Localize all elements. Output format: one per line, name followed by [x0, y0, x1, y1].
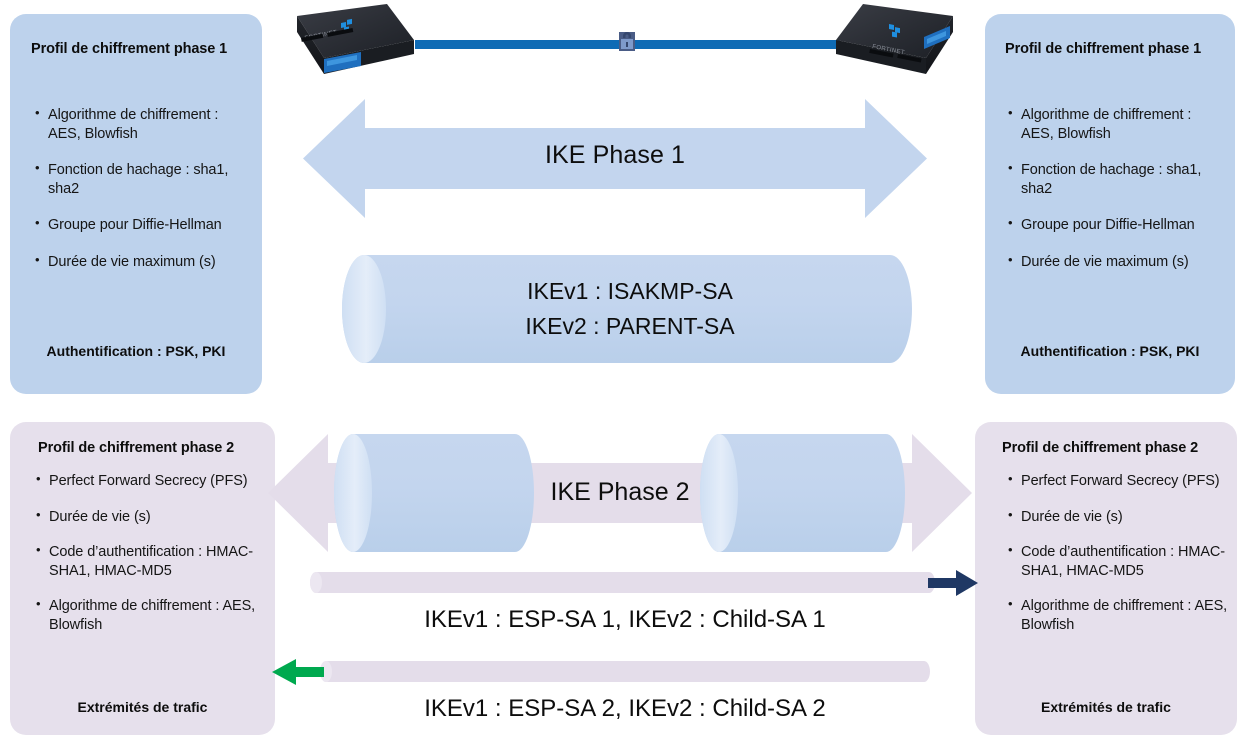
- esp-sa-2-direction-arrow: [272, 657, 324, 687]
- profile-footer: Authentification : PSK, PKI: [10, 343, 262, 360]
- list-item: Algorithme de chiffrement : AES, Blowfis…: [35, 597, 260, 634]
- list-item: Perfect Forward Secrecy (PFS): [35, 472, 260, 491]
- profile-title: Profil de chiffrement phase 2: [38, 440, 234, 457]
- ike-phase2-label: IKE Phase 2: [268, 478, 972, 507]
- list-item: Algorithme de chiffrement : AES, Blowfis…: [34, 106, 249, 143]
- list-item: Algorithme de chiffrement : AES, Blowfis…: [1007, 106, 1225, 143]
- list-item: Code d’authentification : HMAC-SHA1, HMA…: [1007, 543, 1233, 580]
- list-item: Code d’authentification : HMAC-SHA1, HMA…: [35, 543, 260, 580]
- list-item: Durée de vie maximum (s): [1007, 253, 1225, 272]
- profile-item-list: Algorithme de chiffrement : AES, Blowfis…: [1007, 106, 1225, 289]
- profile-box-phase2-left: Profil de chiffrement phase 2 Perfect Fo…: [10, 422, 275, 735]
- profile-box-phase1-left: Profil de chiffrement phase 1 Algorithme…: [10, 14, 262, 394]
- firewall-appliance-icon: FORTINET: [283, 4, 418, 94]
- profile-box-phase1-right: Profil de chiffrement phase 1 Algorithme…: [985, 14, 1235, 394]
- profile-item-list: Perfect Forward Secrecy (PFS) Durée de v…: [1007, 472, 1233, 651]
- profile-footer: Extrémités de trafic: [975, 699, 1237, 716]
- profile-item-list: Algorithme de chiffrement : AES, Blowfis…: [34, 106, 249, 289]
- esp-sa-1-direction-arrow: [928, 568, 978, 598]
- list-item: Durée de vie (s): [35, 508, 260, 527]
- list-item: Durée de vie maximum (s): [34, 253, 249, 272]
- diagram-canvas: Profil de chiffrement phase 1 Algorithme…: [0, 0, 1245, 745]
- ike-phase1-label: IKE Phase 1: [303, 141, 927, 170]
- profile-footer: Extrémités de trafic: [10, 699, 275, 716]
- firewall-appliance-icon: FORTINET: [832, 4, 967, 94]
- phase1-sa-labels: IKEv1 : ISAKMP-SA IKEv2 : PARENT-SA: [360, 274, 900, 344]
- list-item: Algorithme de chiffrement : AES, Blowfis…: [1007, 597, 1233, 634]
- list-item: Perfect Forward Secrecy (PFS): [1007, 472, 1233, 491]
- list-item: Fonction de hachage : sha1, sha2: [34, 161, 249, 198]
- list-item: Groupe pour Diffie-Hellman: [1007, 216, 1225, 235]
- esp-sa-2-bar: [320, 661, 930, 682]
- phase1-sa-line-2: IKEv2 : PARENT-SA: [360, 309, 900, 344]
- profile-item-list: Perfect Forward Secrecy (PFS) Durée de v…: [35, 472, 260, 651]
- list-item: Groupe pour Diffie-Hellman: [34, 216, 249, 235]
- esp-sa-1-label: IKEv1 : ESP-SA 1, IKEv2 : Child-SA 1: [290, 606, 960, 634]
- profile-title: Profil de chiffrement phase 1: [1005, 41, 1201, 58]
- list-item: Fonction de hachage : sha1, sha2: [1007, 161, 1225, 198]
- list-item: Durée de vie (s): [1007, 508, 1233, 527]
- esp-sa-1-bar: [310, 572, 935, 593]
- profile-title: Profil de chiffrement phase 2: [1002, 440, 1198, 457]
- profile-box-phase2-right: Profil de chiffrement phase 2 Perfect Fo…: [975, 422, 1237, 735]
- profile-title: Profil de chiffrement phase 1: [31, 41, 227, 58]
- profile-footer: Authentification : PSK, PKI: [985, 343, 1235, 360]
- esp-sa-2-label: IKEv1 : ESP-SA 2, IKEv2 : Child-SA 2: [290, 695, 960, 723]
- lock-icon: [618, 31, 636, 52]
- phase1-sa-line-1: IKEv1 : ISAKMP-SA: [360, 274, 900, 309]
